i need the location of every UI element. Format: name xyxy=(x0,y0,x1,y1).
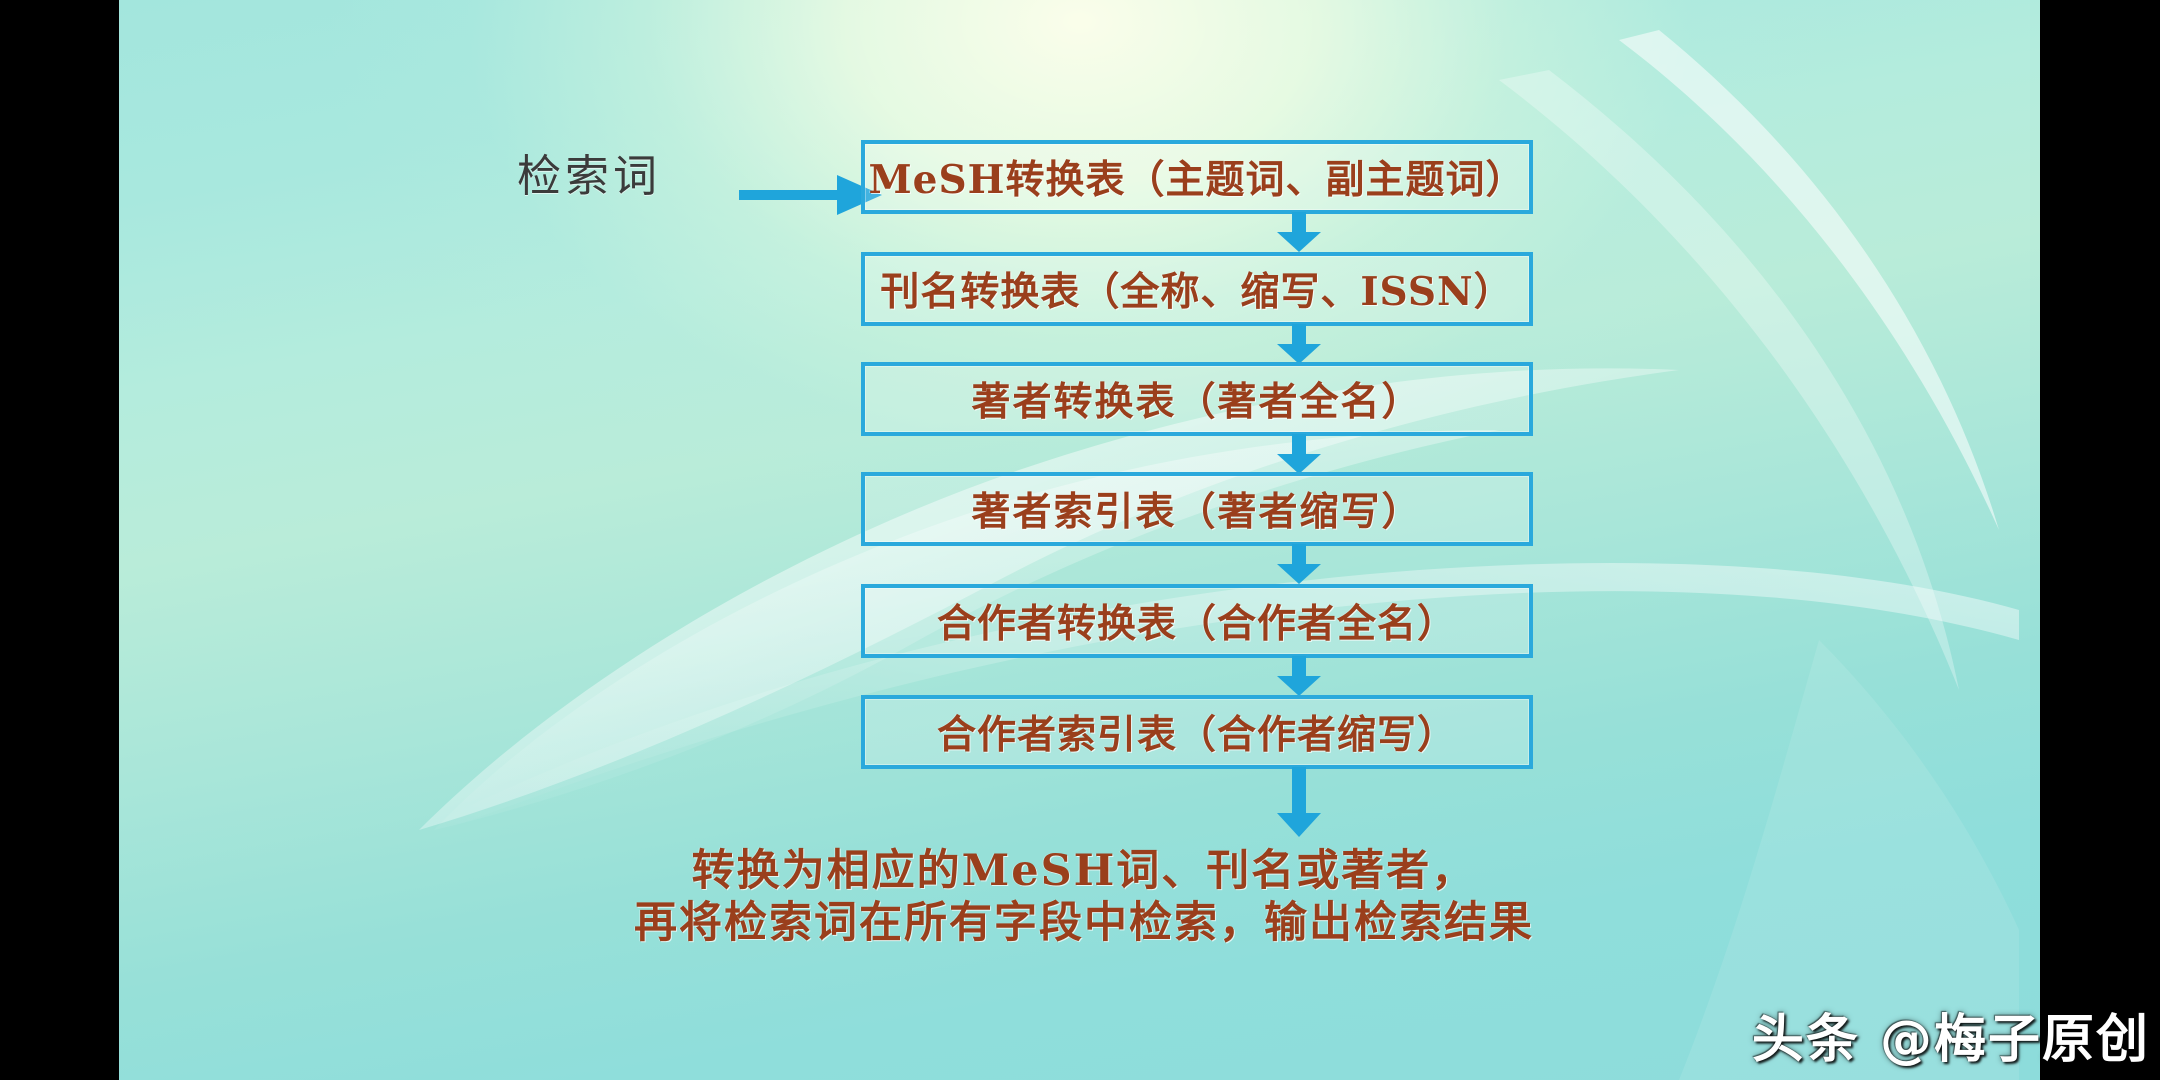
flow-box-collaborator-translation-table[interactable]: 合作者转换表（合作者全名） xyxy=(861,584,1533,658)
flow-box-label: 刊名转换表（全称、缩写、ISSN） xyxy=(880,261,1513,317)
flow-outcome-line-1: 转换为相应的MeSH词、刊名或著者， xyxy=(419,845,1749,897)
flow-box-journal-translation-table[interactable]: 刊名转换表（全称、缩写、ISSN） xyxy=(861,252,1533,326)
flow-box-label: 著者索引表（著者缩写） xyxy=(971,481,1422,537)
flow-box-label: 著者转换表（著者全名） xyxy=(971,371,1422,427)
flow-box-label: MeSH转换表（主题词、副主题词） xyxy=(869,149,1526,205)
arrow-down-icon xyxy=(1271,656,1327,696)
arrow-down-icon xyxy=(1271,212,1327,252)
arrow-down-icon xyxy=(1271,767,1327,837)
channel-watermark: 头条 @梅子原创 xyxy=(1752,997,2150,1072)
video-frame: 检索词 MeSH转换表（主题词、副主题词） 刊名转换表（全称、缩写、ISSN） … xyxy=(0,0,2160,1080)
flow-box-collaborator-index-table[interactable]: 合作者索引表（合作者缩写） xyxy=(861,695,1533,769)
flow-box-mesh-translation-table[interactable]: MeSH转换表（主题词、副主题词） xyxy=(861,140,1533,214)
flow-box-label: 合作者索引表（合作者缩写） xyxy=(937,704,1457,760)
flowchart: 检索词 MeSH转换表（主题词、副主题词） 刊名转换表（全称、缩写、ISSN） … xyxy=(119,0,2040,1080)
letterbox-bar-right xyxy=(2040,0,2160,1080)
flow-outcome-text: 转换为相应的MeSH词、刊名或著者， 再将检索词在所有字段中检索，输出检索结果 xyxy=(419,845,1749,950)
flow-box-author-translation-table[interactable]: 著者转换表（著者全名） xyxy=(861,362,1533,436)
arrow-down-icon xyxy=(1271,434,1327,474)
arrow-down-icon xyxy=(1271,544,1327,584)
flow-box-label: 合作者转换表（合作者全名） xyxy=(937,593,1457,649)
letterbox-bar-left xyxy=(0,0,119,1080)
presentation-slide: 检索词 MeSH转换表（主题词、副主题词） 刊名转换表（全称、缩写、ISSN） … xyxy=(119,0,2040,1080)
arrow-down-icon xyxy=(1271,324,1327,364)
flow-box-author-index-table[interactable]: 著者索引表（著者缩写） xyxy=(861,472,1533,546)
search-term-label: 检索词 xyxy=(459,140,719,204)
flow-outcome-line-2: 再将检索词在所有字段中检索，输出检索结果 xyxy=(419,897,1749,949)
